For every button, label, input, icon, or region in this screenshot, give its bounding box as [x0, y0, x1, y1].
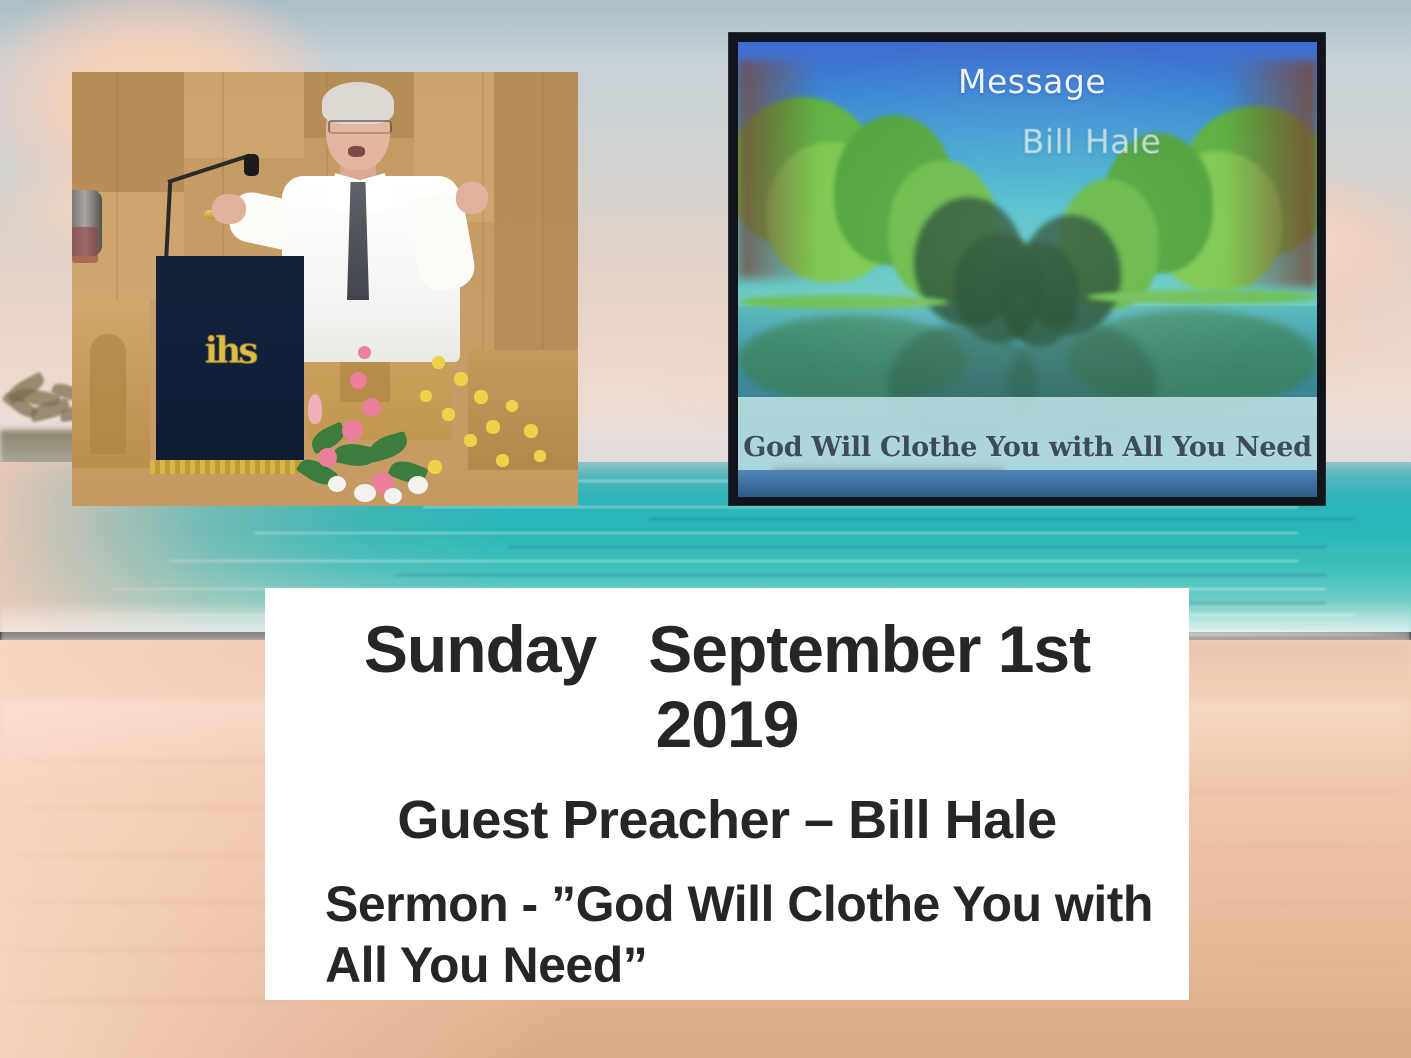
preacher-photo: ihs	[72, 72, 578, 506]
pulpit-banner-fringe	[150, 460, 308, 474]
service-year: 2019	[287, 691, 1167, 758]
service-date: Sunday September 1st	[287, 616, 1167, 683]
guest-preacher-line: Guest Preacher – Bill Hale	[287, 793, 1167, 848]
pulpit-banner-monogram: ihs	[156, 330, 304, 372]
preacher-necktie	[347, 182, 369, 300]
slide-bottom-strip	[738, 470, 1317, 497]
slide-speaker-name: Bill Hale	[1022, 122, 1162, 161]
preacher-mouth	[348, 146, 365, 157]
slide-caption: God Will Clothe You with All You Need	[738, 432, 1317, 463]
projector-screen: Message Bill Hale God Will Clothe You wi…	[729, 33, 1325, 505]
sermon-title-line: Sermon - ”God Will Clothe You with All Y…	[287, 874, 1167, 996]
pew-bench	[468, 350, 578, 470]
preacher-right-hand	[456, 182, 488, 214]
slide-right-bluff	[1225, 60, 1317, 288]
organ-accent	[72, 227, 98, 263]
preacher-hair	[322, 82, 394, 124]
slide-left-bluff	[738, 60, 818, 278]
announcement-panel: Sunday September 1st 2019 Guest Preacher…	[265, 588, 1189, 1000]
preacher-left-hand	[212, 194, 246, 224]
projected-slide: Message Bill Hale God Will Clothe You wi…	[738, 42, 1317, 497]
church-service-announcement-poster: ihs	[0, 0, 1411, 1058]
microphone-head	[244, 154, 259, 176]
preacher-glasses	[328, 120, 392, 134]
slide-heading: Message	[958, 62, 1106, 101]
side-cabinet-arch	[90, 334, 126, 454]
